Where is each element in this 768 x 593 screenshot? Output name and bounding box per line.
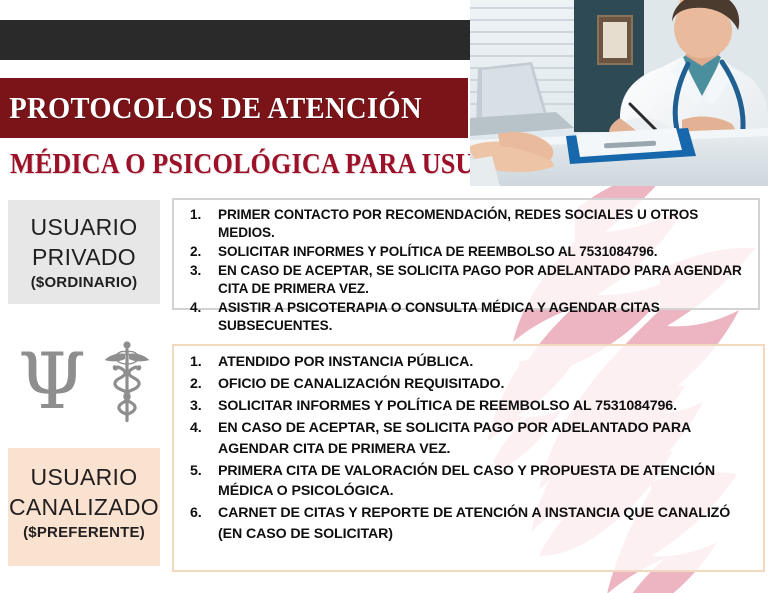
list-item: PRIMERA CITA DE VALORACIÓN DEL CASO Y PR…	[182, 461, 755, 502]
user-type-box-privado: USUARIO PRIVADO ($ORDINARIO)	[8, 200, 160, 304]
canalizado-label-line2: CANALIZADO	[8, 492, 160, 522]
page-title-line1: PROTOCOLOS DE ATENCIÓN	[0, 90, 422, 126]
title-band: PROTOCOLOS DE ATENCIÓN	[0, 78, 468, 138]
list-item: ATENDIDO POR INSTANCIA PÚBLICA.	[182, 352, 755, 373]
psi-symbol: Ψ	[18, 343, 86, 421]
canalizado-label-line1: USUARIO	[8, 462, 160, 492]
doctor-consultation-photo	[470, 0, 768, 186]
list-item: SOLICITAR INFORMES Y POLÍTICA DE REEMBOL…	[182, 243, 750, 261]
list-item: PRIMER CONTACTO POR RECOMENDACIÓN, REDES…	[182, 206, 750, 242]
user-type-box-canalizado: USUARIO CANALIZADO ($PREFERENTE)	[8, 448, 160, 566]
steps-panel-canalizado: ATENDIDO POR INSTANCIA PÚBLICA.OFICIO DE…	[172, 344, 765, 572]
list-item: OFICIO DE CANALIZACIÓN REQUISITADO.	[182, 374, 755, 395]
list-item: EN CASO DE ACEPTAR, SE SOLICITA PAGO POR…	[182, 262, 750, 298]
canalizado-label-sub: ($PREFERENTE)	[8, 522, 160, 544]
page-title-line2: MÉDICA O PSICOLÓGICA PARA USUARIOS	[10, 148, 433, 184]
list-item: CARNET DE CITAS Y REPORTE DE ATENCIÓN A …	[182, 503, 755, 544]
steps-list-privado: PRIMER CONTACTO POR RECOMENDACIÓN, REDES…	[182, 206, 750, 335]
privado-label-line1: USUARIO	[8, 212, 160, 242]
list-item: EN CASO DE ACEPTAR, SE SOLICITA PAGO POR…	[182, 418, 755, 459]
privado-label-sub: ($ORDINARIO)	[8, 272, 160, 294]
caduceus-icon	[104, 340, 150, 431]
privado-label-line2: PRIVADO	[8, 242, 160, 272]
steps-list-canalizado: ATENDIDO POR INSTANCIA PÚBLICA.OFICIO DE…	[182, 352, 755, 544]
list-item: ASISTIR A PSICOTERAPIA O CONSULTA MÉDICA…	[182, 299, 750, 335]
poster-canvas: PROTOCOLOS DE ATENCIÓN MÉDICA O PSICOLÓG…	[0, 0, 768, 593]
steps-panel-privado: PRIMER CONTACTO POR RECOMENDACIÓN, REDES…	[172, 198, 760, 310]
profession-symbols: Ψ	[8, 336, 160, 434]
top-dark-bar	[0, 20, 470, 60]
list-item: SOLICITAR INFORMES Y POLÍTICA DE REEMBOL…	[182, 396, 755, 417]
